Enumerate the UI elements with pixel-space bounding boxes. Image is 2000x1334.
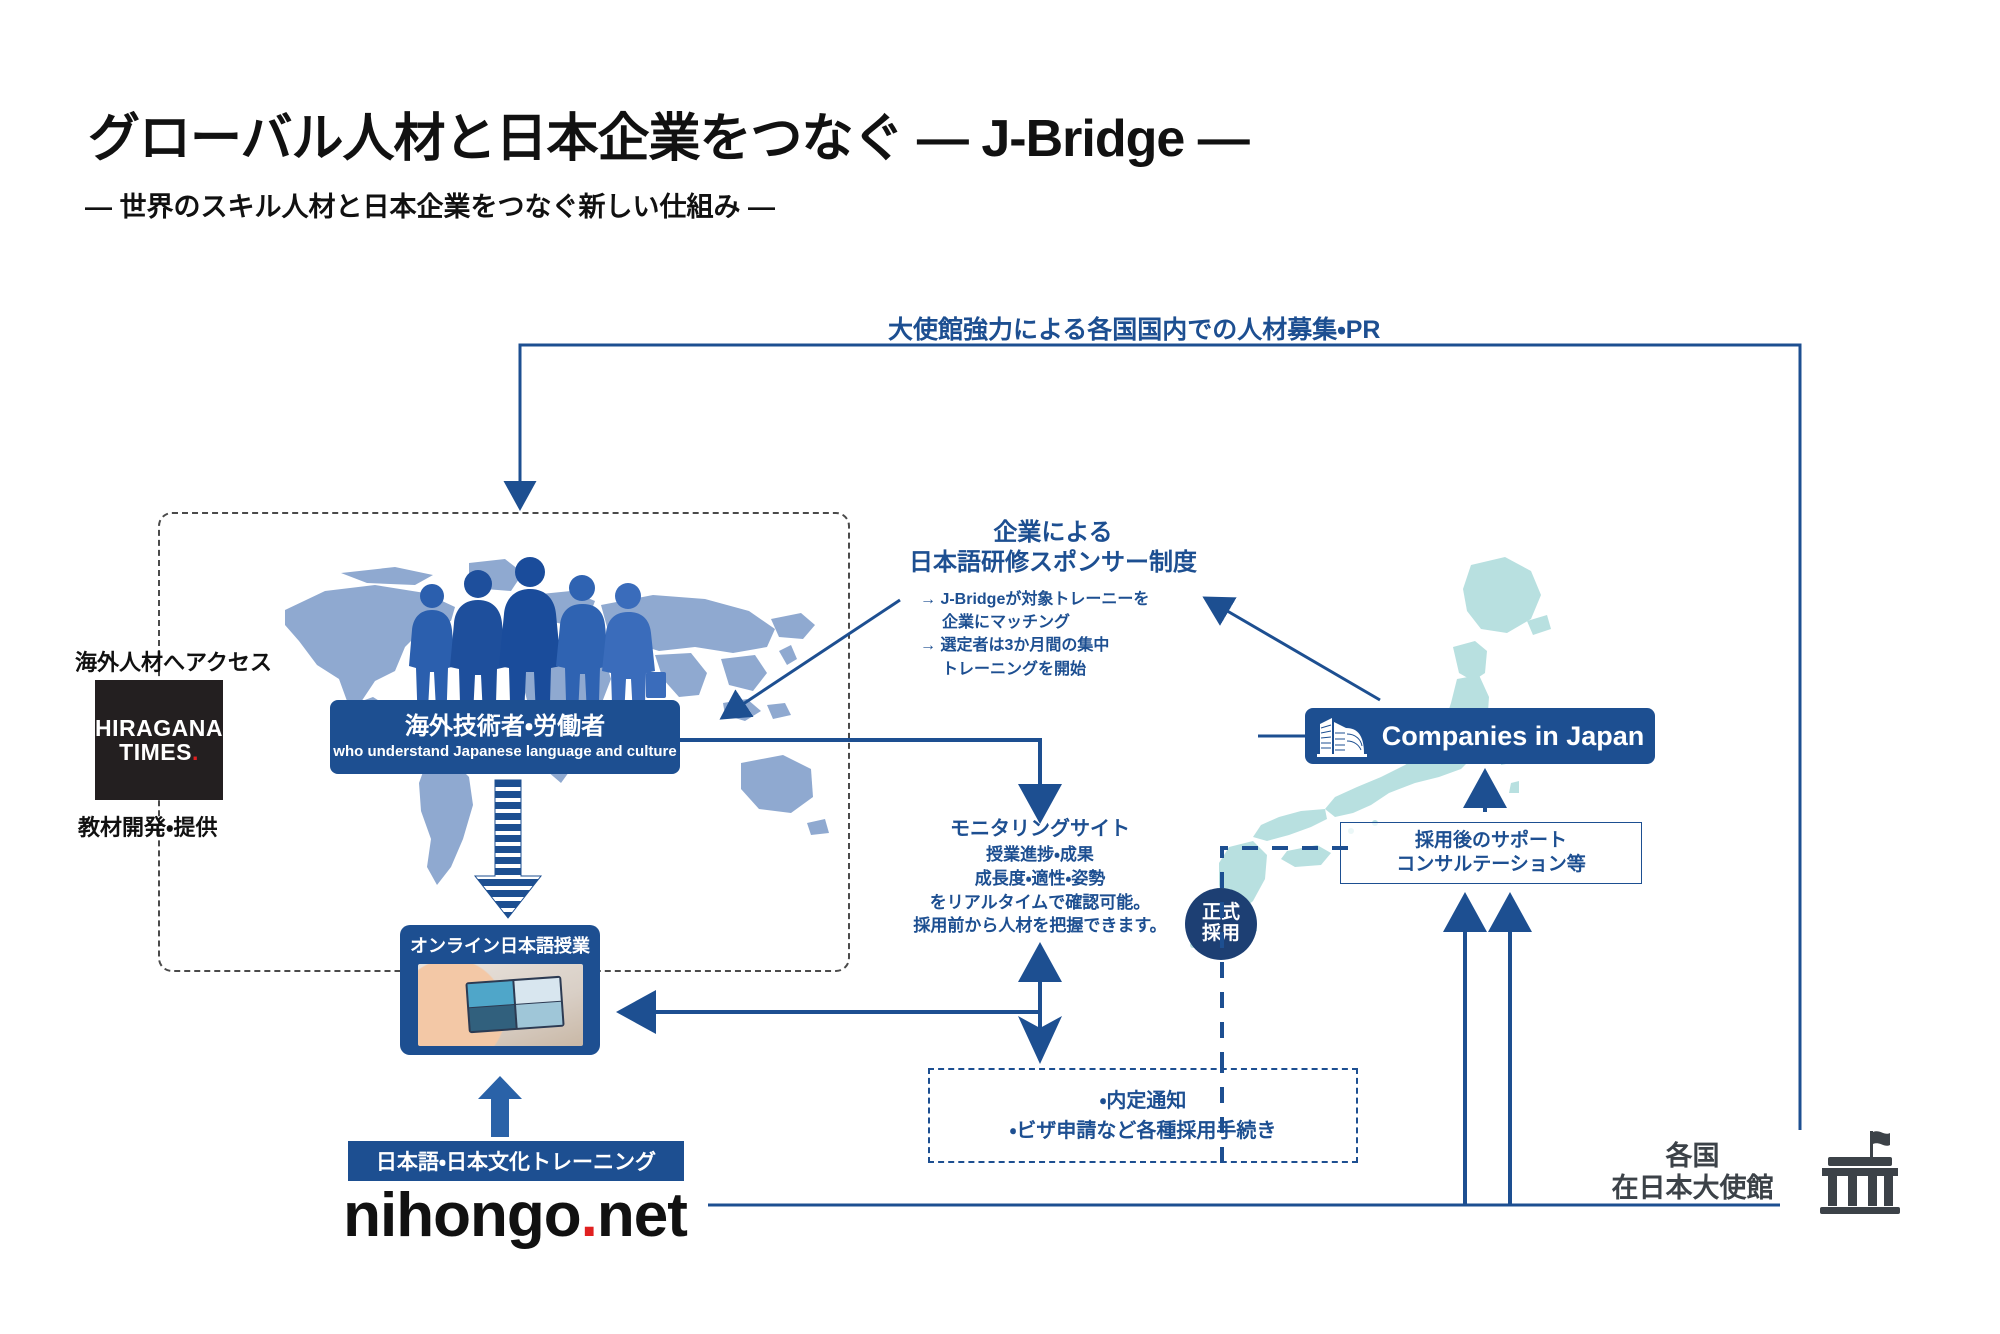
companies-in-japan-box[interactable]: Companies in Japan	[1305, 708, 1655, 764]
diagram-canvas: グローバル人材と日本企業をつなぐ ― J-Bridge ― ― 世界のスキル人材…	[0, 0, 2000, 1334]
post-hire-support-box[interactable]: 採用後のサポート コンサルテーション等	[1340, 822, 1642, 884]
monitoring-site-block: モニタリングサイト 授業進捗・成果 成長度・適性・姿勢 をリアルタイムで確認可能…	[905, 815, 1175, 938]
embassy-recruitment-banner-label: 大使館強力による各国国内での人材募集・PR	[888, 310, 1380, 346]
overseas-workers-box[interactable]: 海外技術者・労働者 who understand Japanese langua…	[330, 700, 680, 774]
page-subtitle: ― 世界のスキル人材と日本企業をつなぐ新しい仕組み ―	[85, 185, 775, 224]
offer-line-1: ・内定通知	[1100, 1086, 1187, 1116]
embassy-label: 各国 在日本大使館	[1585, 1140, 1800, 1205]
monitoring-heading: モニタリングサイト	[905, 815, 1175, 843]
support-line-1: 採用後のサポート	[1415, 829, 1567, 853]
hire-badge-line-1: 正式	[1202, 903, 1240, 924]
sponsor-title-line1: 企業による	[888, 518, 1218, 548]
embassy-building-icon	[1818, 1127, 1902, 1219]
monitoring-line-1: 授業進捗・成果	[905, 843, 1175, 867]
online-japanese-class-box[interactable]: オンライン日本語授業	[400, 925, 600, 1055]
overseas-workers-subtitle: who understand Japanese language and cul…	[333, 743, 676, 760]
hiragana-times-line1: HIRAGANA	[95, 716, 223, 740]
offer-line-2: ・ビザ申請など各種採用手続き	[1010, 1116, 1277, 1146]
page-title: グローバル人材と日本企業をつなぐ ― J-Bridge ―	[88, 96, 1249, 171]
monitoring-line-3: をリアルタイムで確認可能。	[905, 891, 1175, 915]
embassy-line-1: 各国	[1585, 1140, 1800, 1172]
striped-down-arrow-icon	[473, 780, 543, 920]
offer-procedures-box: ・内定通知 ・ビザ申請など各種採用手続き	[928, 1068, 1358, 1163]
overseas-workers-title: 海外技術者・労働者	[405, 714, 605, 740]
tablet-videocall-icon	[465, 975, 564, 1032]
online-class-photo	[418, 964, 583, 1046]
access-overseas-talent-label: 海外人材へアクセス	[75, 645, 272, 677]
online-class-title: オンライン日本語授業	[410, 932, 590, 958]
monitoring-line-2: 成長度・適性・姿勢	[905, 867, 1175, 891]
hiragana-times-line2: TIMES.	[119, 740, 199, 764]
companies-in-japan-label: Companies in Japan	[1382, 721, 1645, 752]
hiragana-times-logo[interactable]: HIRAGANA TIMES.	[95, 680, 223, 800]
hiragana-times-dot: .	[192, 739, 199, 765]
support-line-2: コンサルテーション等	[1396, 853, 1586, 877]
materials-development-label: 教材開発・提供	[78, 810, 217, 842]
sponsor-program-title: 企業による 日本語研修スポンサー制度	[888, 518, 1218, 578]
embassy-line-2: 在日本大使館	[1585, 1172, 1800, 1204]
hire-badge-line-2: 採用	[1202, 924, 1240, 945]
office-building-icon	[1316, 714, 1368, 758]
nihongo-net-word: nihongo	[343, 1181, 580, 1250]
sponsor-title-line2: 日本語研修スポンサー制度	[888, 548, 1218, 578]
training-banner[interactable]: 日本語・日本文化トレーニング	[348, 1141, 684, 1181]
official-hire-badge: 正式 採用	[1185, 888, 1257, 960]
monitoring-line-4: 採用前から人材を把握できます。	[905, 914, 1175, 938]
training-up-arrow-icon	[477, 1075, 523, 1137]
nihongo-net-dot: .	[581, 1181, 597, 1250]
nihongo-net-tld: net	[597, 1181, 687, 1250]
nihongo-net-logo[interactable]: nihongo.net	[340, 1180, 690, 1251]
